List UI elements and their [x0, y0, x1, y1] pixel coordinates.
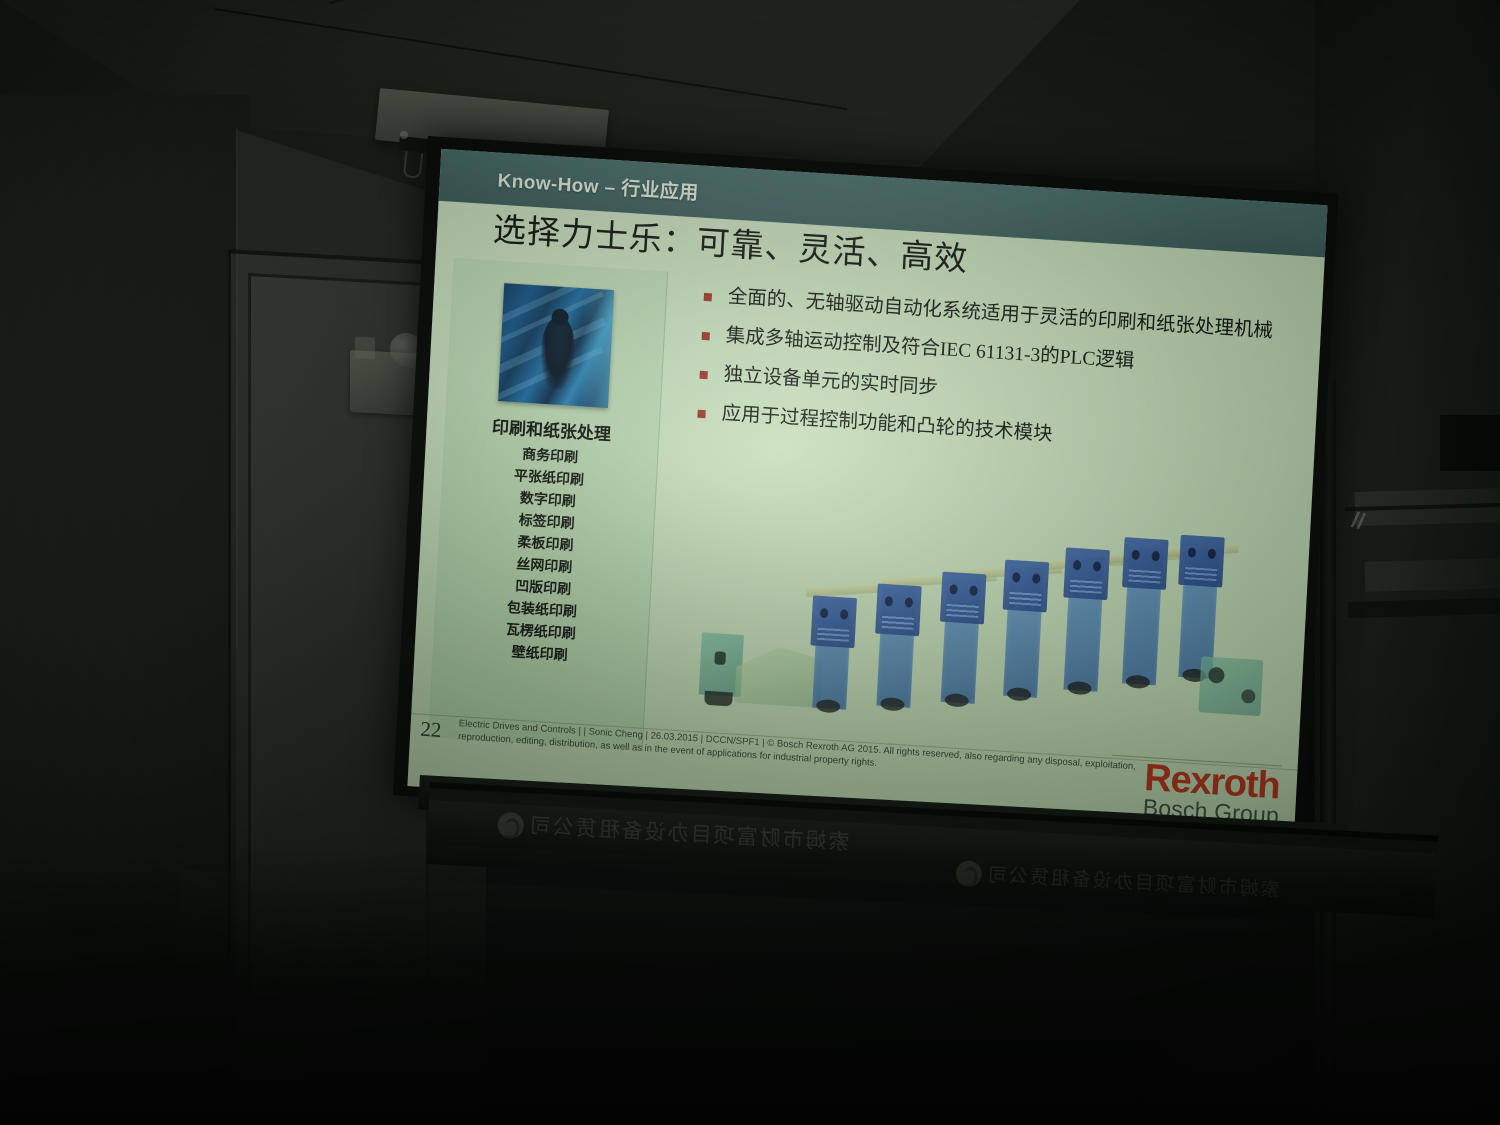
- press-head: [1063, 547, 1110, 600]
- left-column-list: 商务印刷 平张纸印刷 数字印刷 标签印刷 柔板印刷 丝网印刷 凹版印刷 包装纸印…: [432, 440, 657, 673]
- photo-person-silhouette: [539, 316, 577, 390]
- press-head-grill: [1070, 578, 1103, 594]
- press-foot: [816, 699, 841, 714]
- presentation-slide: Know-How – 行业应用 选择力士乐：可靠、灵活、高效 印刷和纸张处理: [407, 149, 1327, 843]
- press-head: [1122, 537, 1169, 590]
- press-delivery-roller: [1208, 667, 1225, 684]
- screenshot-root: // Know-How – 行业应用 选择力士乐：可靠、灵活、高效: [0, 0, 1500, 1125]
- left-column-panel: 印刷和纸张处理 商务印刷 平张纸印刷 数字印刷 标签印刷 柔板印刷 丝网印刷 凹…: [428, 258, 667, 751]
- press-head-port: [1093, 561, 1102, 571]
- press-head: [875, 584, 922, 637]
- background-equipment-panel: [355, 336, 375, 359]
- press-head-port: [949, 584, 958, 594]
- ceiling-seam: [215, 8, 847, 110]
- bullet-list: 全面的、无轴驱动自动化系统适用于灵活的印刷和纸张处理机械 集成多轴运动控制及符合…: [694, 282, 1301, 476]
- press-head-port: [1131, 550, 1140, 560]
- press-foot: [1007, 687, 1032, 702]
- press-unwinder-base: [704, 691, 733, 707]
- press-head-port: [820, 608, 829, 618]
- press-foot: [880, 697, 905, 712]
- wall-right-panel-lower: [1365, 558, 1500, 592]
- press-head-port: [969, 585, 978, 595]
- press-foot: [1126, 675, 1151, 690]
- press-head-port: [905, 597, 914, 607]
- ceiling-fixture-dot: [400, 131, 408, 139]
- press-head-port: [1032, 573, 1041, 583]
- slide-header-label: Know-How – 行业应用: [497, 165, 699, 205]
- page-number: 22: [420, 717, 442, 743]
- screen-frame: Know-How – 行业应用 选择力士乐：可靠、灵活、高效 印刷和纸张处理: [393, 136, 1338, 853]
- printing-press-illustration: [690, 518, 1269, 744]
- printing-photo-thumbnail: [498, 283, 614, 408]
- press-head-port: [885, 596, 894, 606]
- floor-shadow: [0, 845, 1500, 1125]
- press-head-port: [840, 609, 849, 619]
- press-head: [1003, 560, 1050, 613]
- press-head-grill: [946, 602, 979, 618]
- press-head-port: [1073, 560, 1082, 570]
- press-head: [810, 595, 857, 648]
- press-delivery-unit: [1198, 656, 1263, 716]
- press-head-grill: [1184, 565, 1217, 581]
- press-foot: [1067, 681, 1092, 696]
- projection-screen: Know-How – 行业应用 选择力士乐：可靠、灵活、高效 印刷和纸张处理: [393, 136, 1338, 853]
- photo-highlight: [578, 288, 614, 408]
- press-head-port: [1012, 572, 1021, 582]
- press-head: [1178, 535, 1225, 588]
- screen-mount-hook: [403, 151, 424, 179]
- press-feeder: [734, 645, 823, 708]
- press-unwinder-port: [714, 651, 726, 665]
- ceiling-seam-secondary: [330, 0, 794, 4]
- press-foot: [944, 693, 969, 708]
- press-head: [940, 572, 987, 625]
- press-head-grill: [1128, 567, 1161, 583]
- press-head-port: [1188, 547, 1197, 557]
- press-delivery-roller: [1241, 689, 1256, 704]
- press-head-grill: [881, 614, 914, 630]
- wall-right-dark-recess: [1440, 415, 1500, 471]
- press-head-port: [1151, 551, 1160, 561]
- press-head-grill: [817, 626, 850, 642]
- press-head-grill: [1009, 590, 1042, 606]
- press-head-port: [1208, 548, 1217, 558]
